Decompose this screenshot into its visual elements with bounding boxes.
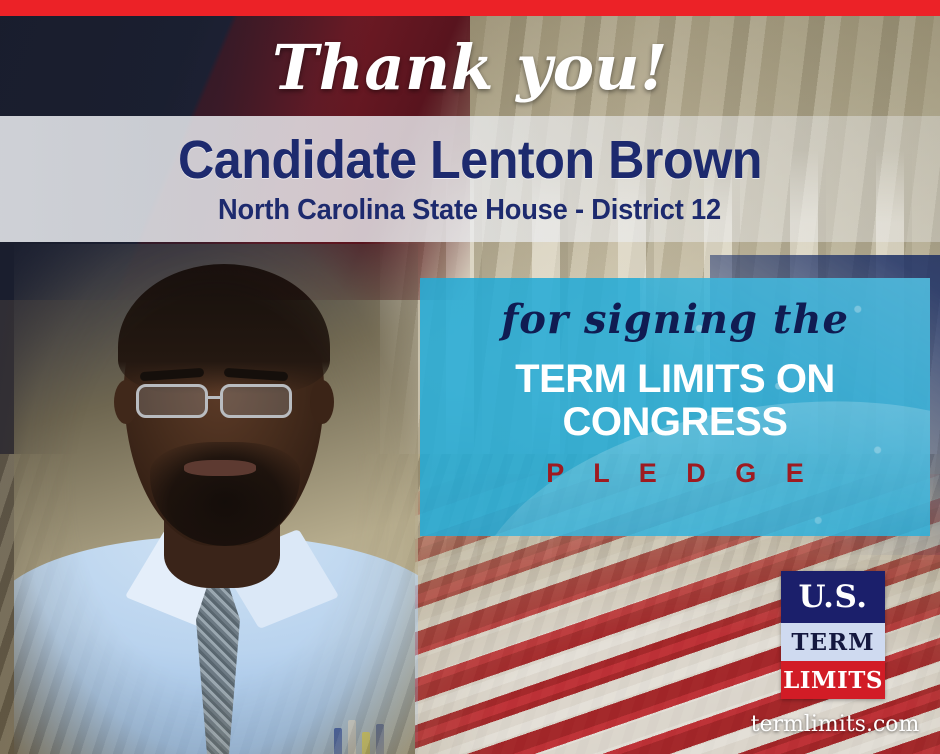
website-url[interactable]: termlimits.com [740, 712, 930, 742]
pledge-panel-content: for signing the TERM LIMITS ON CONGRESS … [420, 278, 930, 489]
pen-icon [348, 720, 356, 754]
pen-icon [334, 728, 342, 754]
portrait-eyeglass-lens-right [220, 384, 292, 418]
portrait-ear-left [114, 380, 138, 424]
portrait-ear-right [310, 380, 334, 424]
pledge-title-line-2: CONGRESS [446, 401, 904, 444]
pledge-subtitle: P L E D G E [446, 458, 904, 489]
portrait-mouth [184, 460, 256, 476]
logo-line-term: TERM [781, 623, 885, 661]
pledge-title-line-1: TERM LIMITS ON [446, 358, 904, 401]
logo-line-us: U.S. [781, 571, 885, 623]
pen-icon [362, 732, 370, 754]
thank-you-graphic: Thank you! Candidate Lenton Brown North … [0, 0, 940, 754]
top-red-bar [0, 0, 940, 16]
candidate-office: North Carolina State House - District 12 [219, 196, 722, 225]
candidate-name-band: Candidate Lenton Brown North Carolina St… [0, 116, 940, 242]
pledge-script-line: for signing the [446, 300, 904, 340]
page-title: Candidate Lenton Brown [178, 133, 762, 187]
thank-you-headline: Thank you! [0, 18, 940, 116]
portrait-eyeglass-lens-left [136, 384, 208, 418]
portrait-eyeglass-bridge [208, 396, 222, 399]
pen-icon [376, 724, 384, 754]
portrait-pocket-pens [332, 714, 388, 754]
us-term-limits-logo[interactable]: U.S. TERM LIMITS [781, 571, 885, 699]
pledge-panel: for signing the TERM LIMITS ON CONGRESS … [420, 278, 930, 536]
logo-line-limits: LIMITS [781, 661, 885, 699]
candidate-portrait [14, 244, 418, 754]
